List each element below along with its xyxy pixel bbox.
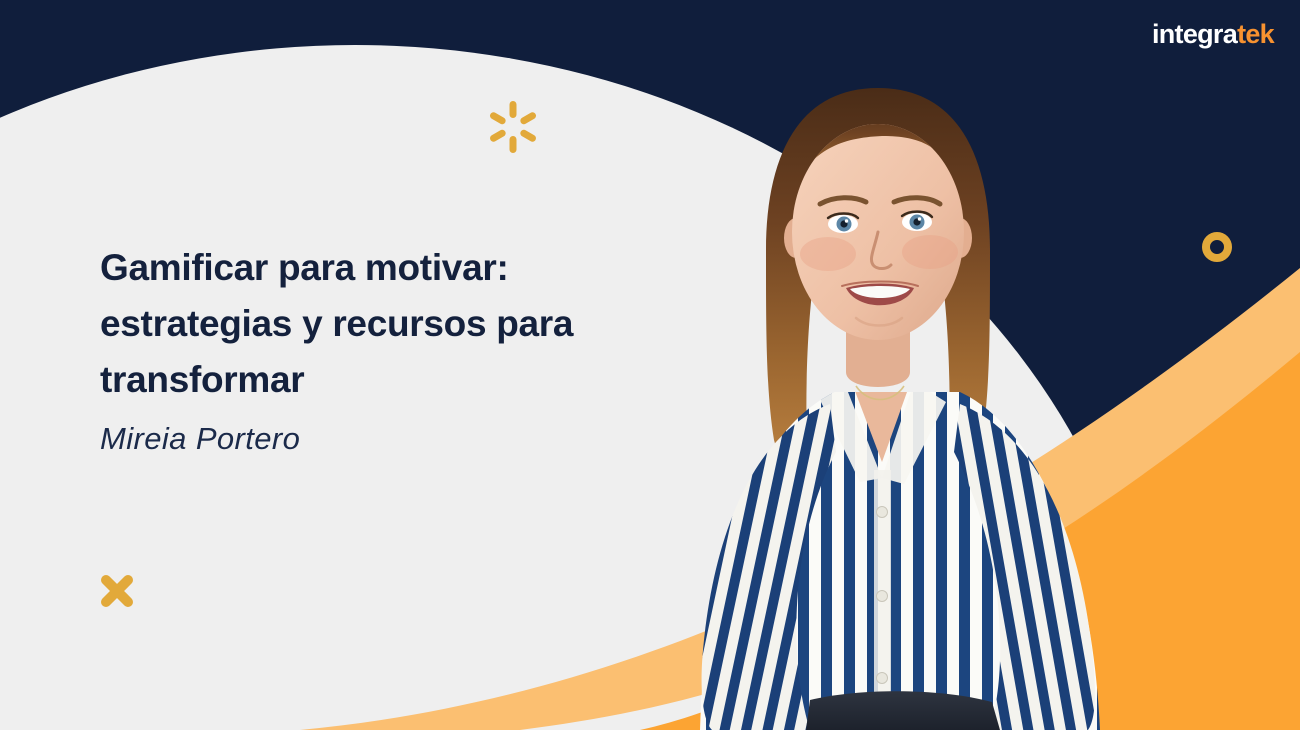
ring-icon <box>1202 232 1232 262</box>
speaker-name: Mireia Portero <box>100 421 675 457</box>
integratek-logo[interactable]: integratek <box>1152 21 1274 48</box>
slide-title: Gamificar para motivar: estrategias y re… <box>100 240 675 409</box>
speaker-photo <box>660 0 1130 730</box>
x-icon <box>99 573 135 609</box>
presentation-slide: integratek Gamificar para motivar: estra… <box>0 0 1300 730</box>
spark-icon <box>487 101 539 153</box>
logo-text-primary: integra <box>1152 19 1237 49</box>
logo-text-accent: tek <box>1237 19 1274 49</box>
slide-text-block: Gamificar para motivar: estrategias y re… <box>100 240 675 457</box>
